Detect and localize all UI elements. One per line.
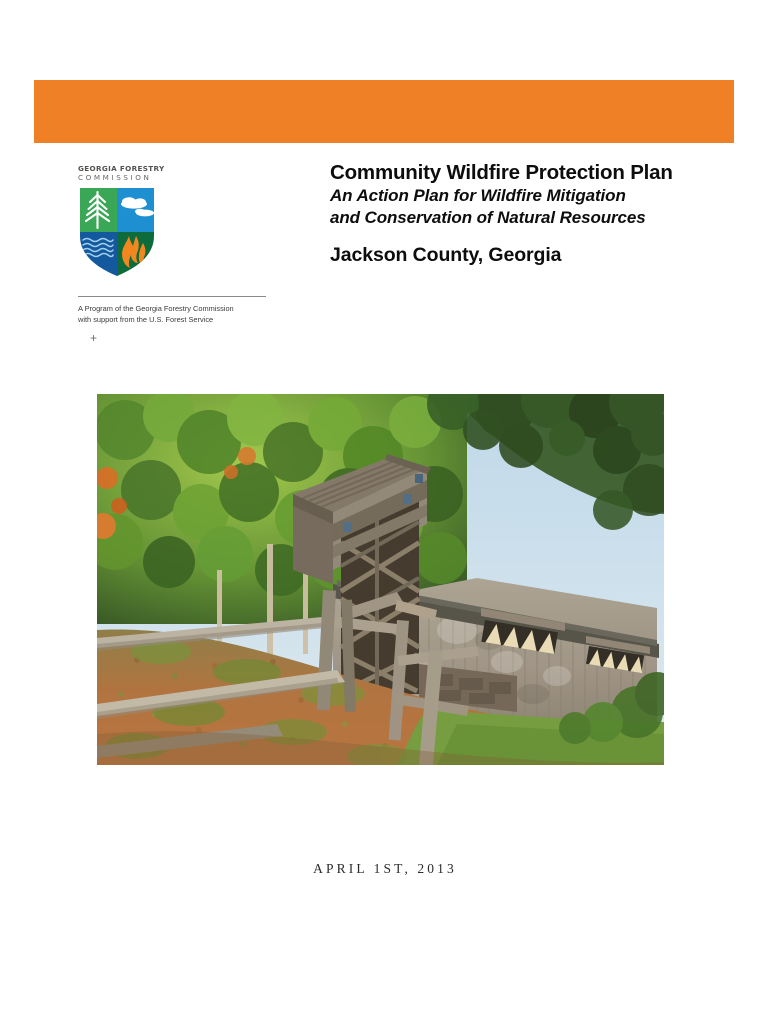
gfc-wordmark-line2: COMMISSION <box>78 173 174 183</box>
publication-date: APRIL 1ST, 2013 <box>0 861 770 877</box>
program-credit-line1: A Program of the Georgia Forestry Commis… <box>78 304 283 315</box>
page-title: Community Wildfire Protection Plan <box>330 160 730 185</box>
cover-page: GEORGIA FORESTRY COMMISSION <box>0 0 770 1024</box>
logo-divider-rule <box>78 296 266 297</box>
county-heading: Jackson County, Georgia <box>330 243 730 267</box>
logo-block: GEORGIA FORESTRY COMMISSION <box>78 164 278 278</box>
title-block: Community Wildfire Protection Plan An Ac… <box>330 160 730 267</box>
covered-bridge-photograph <box>97 394 664 765</box>
page-subtitle-line1: An Action Plan for Wildfire Mitigation <box>330 185 730 207</box>
gfc-wordmark-line1: GEORGIA FORESTRY <box>78 164 174 173</box>
program-credit: A Program of the Georgia Forestry Commis… <box>78 304 283 325</box>
page-subtitle-line2: and Conservation of Natural Resources <box>330 207 730 229</box>
program-credit-line2: with support from the U.S. Forest Servic… <box>78 315 283 326</box>
gfc-wordmark: GEORGIA FORESTRY COMMISSION <box>78 164 174 183</box>
plus-icon: + <box>90 332 97 344</box>
gfc-shield-icon <box>78 186 156 278</box>
orange-banner <box>34 80 734 143</box>
